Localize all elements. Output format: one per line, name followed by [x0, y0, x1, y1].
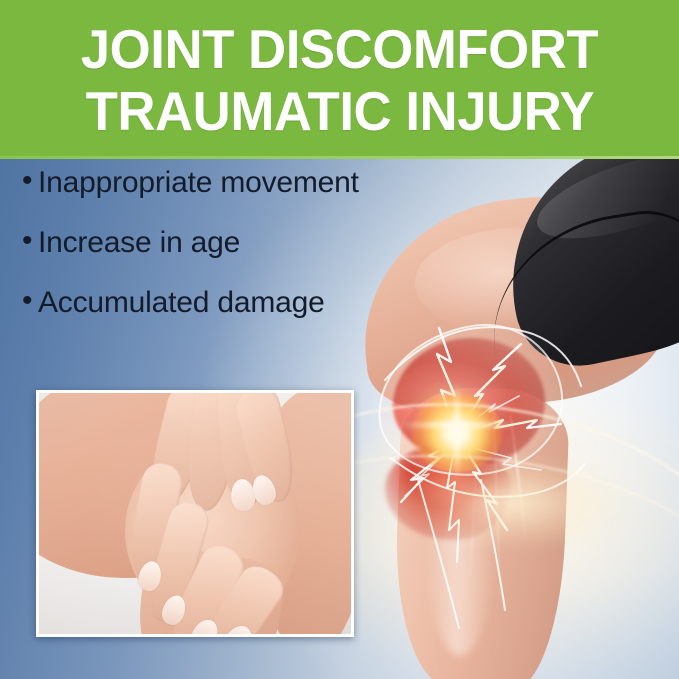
list-item: • Increase in age	[22, 228, 492, 288]
page-title-line-1: JOINT DISCOMFORT	[81, 18, 598, 80]
list-item-label: Accumulated damage	[38, 288, 325, 318]
list-item-label: Increase in age	[38, 228, 240, 258]
bullet-dot-icon: •	[22, 286, 38, 316]
list-item: • Inappropriate movement	[22, 168, 492, 228]
header-banner: JOINT DISCOMFORT TRAUMATIC INJURY	[0, 0, 679, 159]
bullet-dot-icon: •	[22, 226, 38, 256]
poster: JOINT DISCOMFORT TRAUMATIC INJURY • Inap…	[0, 0, 679, 679]
cause-list: • Inappropriate movement • Increase in a…	[22, 168, 492, 348]
hands-holding-knee-photo	[39, 393, 351, 634]
bullet-dot-icon: •	[22, 166, 38, 196]
list-item: • Accumulated damage	[22, 288, 492, 348]
inset-photo-frame	[36, 390, 354, 637]
list-item-label: Inappropriate movement	[38, 168, 359, 198]
page-title-line-2: TRAUMATIC INJURY	[85, 80, 594, 142]
inset-soft-light-overlay	[39, 393, 351, 634]
